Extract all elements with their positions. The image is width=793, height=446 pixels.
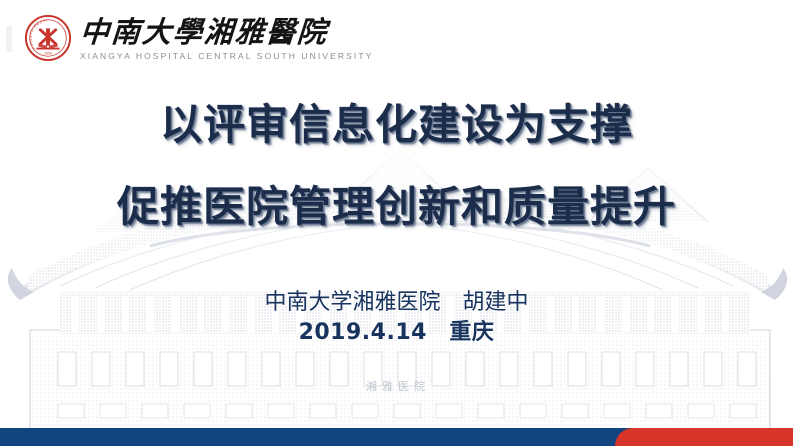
xiangya-hospital-seal-icon: XIANGYA HOSPITAL 1906 [24,14,72,62]
slide-byline: 中南大学湘雅医院 胡建中 2019.4.14 重庆 [0,288,793,347]
slide-title: 以评审信息化建设为支撑 促推医院管理创新和质量提升 [0,104,793,228]
date-location-line: 2019.4.14 重庆 [0,318,793,348]
title-line-1: 以评审信息化建设为支撑 [0,104,793,146]
logo-organization-en: XIANGYA HOSPITAL CENTRAL SOUTH UNIVERSIT… [80,51,373,61]
seal-year-text: 1906 [44,51,52,55]
title-line-2: 促推医院管理创新和质量提升 [0,186,793,228]
presenter-line: 中南大学湘雅医院 胡建中 [0,288,793,318]
title-slide: 湘雅医院 XIANGYA HOSPITAL 1906 [0,0,793,446]
hospital-logo: XIANGYA HOSPITAL 1906 中南大學湘雅醫院 XIANGYA H… [24,14,373,62]
building-sign-text: 湘雅医院 [366,379,430,393]
left-edge-mark [6,26,12,52]
footer-bar-red [615,428,793,446]
logo-organization-cn: 中南大學湘雅醫院 [79,17,375,47]
